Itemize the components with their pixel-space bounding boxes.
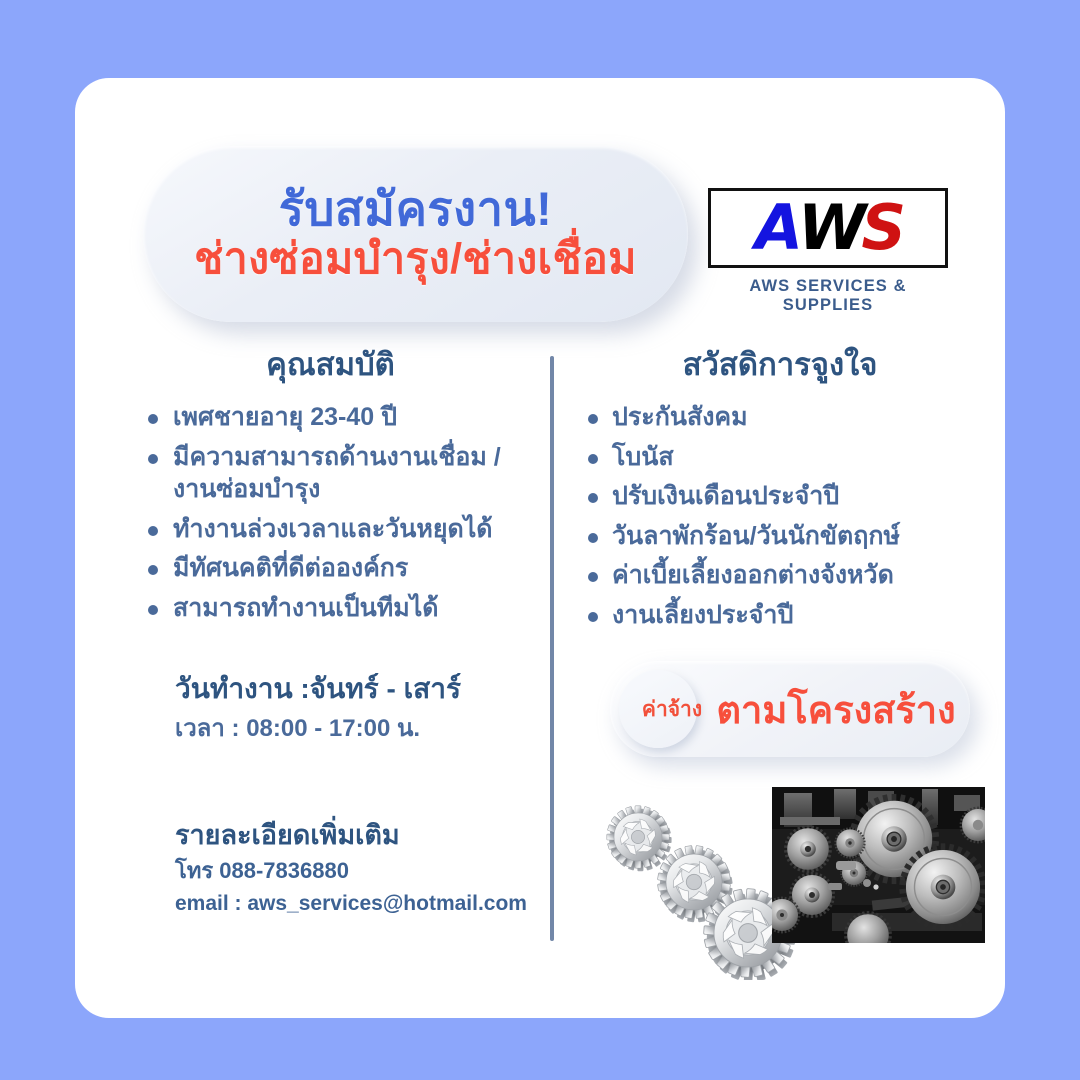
workdays-text: วันทำงาน :จันทร์ - เสาร์ — [175, 670, 595, 708]
work-schedule: วันทำงาน :จันทร์ - เสาร์ เวลา : 08:00 - … — [175, 670, 595, 745]
page-title-secondary: ช่างซ่อมบำรุง/ช่างเชื่อม — [194, 235, 637, 284]
company-logo: AWS AWS SERVICES & SUPPLIES — [708, 188, 948, 315]
contact-heading: รายละเอียดเพิ่มเติม — [175, 818, 625, 853]
benefits-heading: สวัสดิการจูงใจ — [570, 346, 990, 383]
worktime-text: เวลา : 08:00 - 17:00 น. — [175, 712, 595, 746]
logo-box: AWS — [708, 188, 948, 268]
list-item: งานเลี้ยงประจำปี — [570, 599, 990, 632]
logo-wordmark: AWS — [755, 199, 901, 258]
poster-card: รับสมัครงาน! ช่างซ่อมบำรุง/ช่างเชื่อม AW… — [75, 78, 1005, 1018]
logo-letter-s: S — [861, 199, 901, 258]
list-item: ประกันสังคม — [570, 401, 990, 434]
page-title-primary: รับสมัครงาน! — [279, 184, 553, 233]
salary-pill: ค่าจ้าง ตามโครงสร้าง — [610, 661, 970, 757]
title-pill: รับสมัครงาน! ช่างซ่อมบำรุง/ช่างเชื่อม — [143, 146, 688, 322]
salary-label: ค่าจ้าง — [628, 693, 716, 726]
list-item: ค่าเบี้ยเลี้ยงออกต่างจังหวัด — [570, 559, 990, 592]
list-item: สามารถทำงานเป็นทีมได้ — [123, 592, 538, 625]
list-item: มีความสามารถด้านงานเชื่อม / งานซ่อมบำรุง — [123, 441, 538, 506]
contact-phone[interactable]: โทร 088-7836880 — [175, 855, 625, 887]
machinery-photo — [772, 787, 985, 943]
logo-letter-w: W — [798, 199, 861, 258]
salary-value: ตามโครงสร้าง — [716, 679, 970, 740]
benefits-list: ประกันสังคม โบนัส ปรับเงินเดือนประจำปี ว… — [570, 401, 990, 631]
qualifications-section: คุณสมบัติ เพศชายอายุ 23-40 ปี มีความสามา… — [123, 346, 538, 631]
list-item: ทำงานล่วงเวลาและวันหยุดได้ — [123, 513, 538, 546]
list-item: เพศชายอายุ 23-40 ปี — [123, 401, 538, 434]
qualifications-heading: คุณสมบัติ — [123, 346, 538, 383]
qualifications-list: เพศชายอายุ 23-40 ปี มีความสามารถด้านงานเ… — [123, 401, 538, 624]
list-item: วันลาพักร้อน/วันนักขัตฤกษ์ — [570, 520, 990, 553]
contact-email[interactable]: email : aws_services@hotmail.com — [175, 889, 625, 919]
logo-caption: AWS SERVICES & SUPPLIES — [708, 277, 948, 315]
contact-section: รายละเอียดเพิ่มเติม โทร 088-7836880 emai… — [175, 818, 625, 919]
list-item: โบนัส — [570, 441, 990, 474]
gears-icon — [590, 790, 800, 980]
logo-letter-a: A — [755, 199, 798, 258]
list-item: ปรับเงินเดือนประจำปี — [570, 480, 990, 513]
benefits-section: สวัสดิการจูงใจ ประกันสังคม โบนัส ปรับเงิ… — [570, 346, 990, 638]
list-item: มีทัศนคติที่ดีต่อองค์กร — [123, 552, 538, 585]
